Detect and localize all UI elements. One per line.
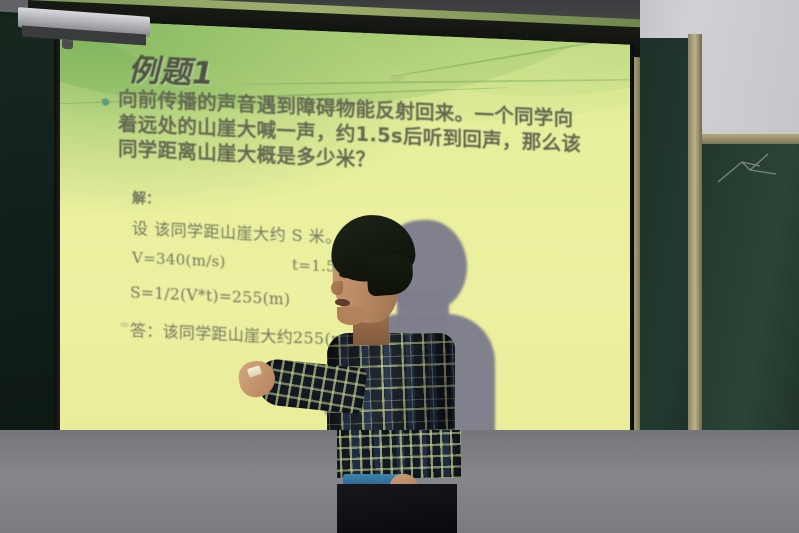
slide-title: 例题1 (128, 44, 215, 93)
student-nose (331, 281, 343, 295)
solution-label: 解： (132, 188, 160, 209)
student-mouth (335, 298, 351, 307)
classroom-photo: 例题1 向前传播的声音遇到障碍物能反射回来。一个同学向 着远处的山崖大喊一声，约… (0, 0, 799, 533)
student-hair-side (366, 253, 415, 296)
shirt-hem (337, 430, 461, 478)
student-chin (337, 307, 365, 325)
screen-mount-knob (62, 40, 73, 50)
slide-bullet-text: 向前传播的声音遇到障碍物能反射回来。一个同学向 着远处的山崖大喊一声，约1.5s… (118, 86, 581, 182)
bullet-dot-icon (102, 98, 109, 105)
student-lower-body (337, 430, 461, 533)
solution-given-velocity: V=340(m/s) (132, 249, 226, 271)
chalkboard-scratch-mark (716, 152, 786, 186)
slide-bullet-block: 向前传播的声音遇到障碍物能反射回来。一个同学向 着远处的山崖大喊一声，约1.5s… (102, 85, 622, 183)
student-trousers (337, 484, 457, 533)
right-chalkboard-far-frame (700, 134, 799, 144)
